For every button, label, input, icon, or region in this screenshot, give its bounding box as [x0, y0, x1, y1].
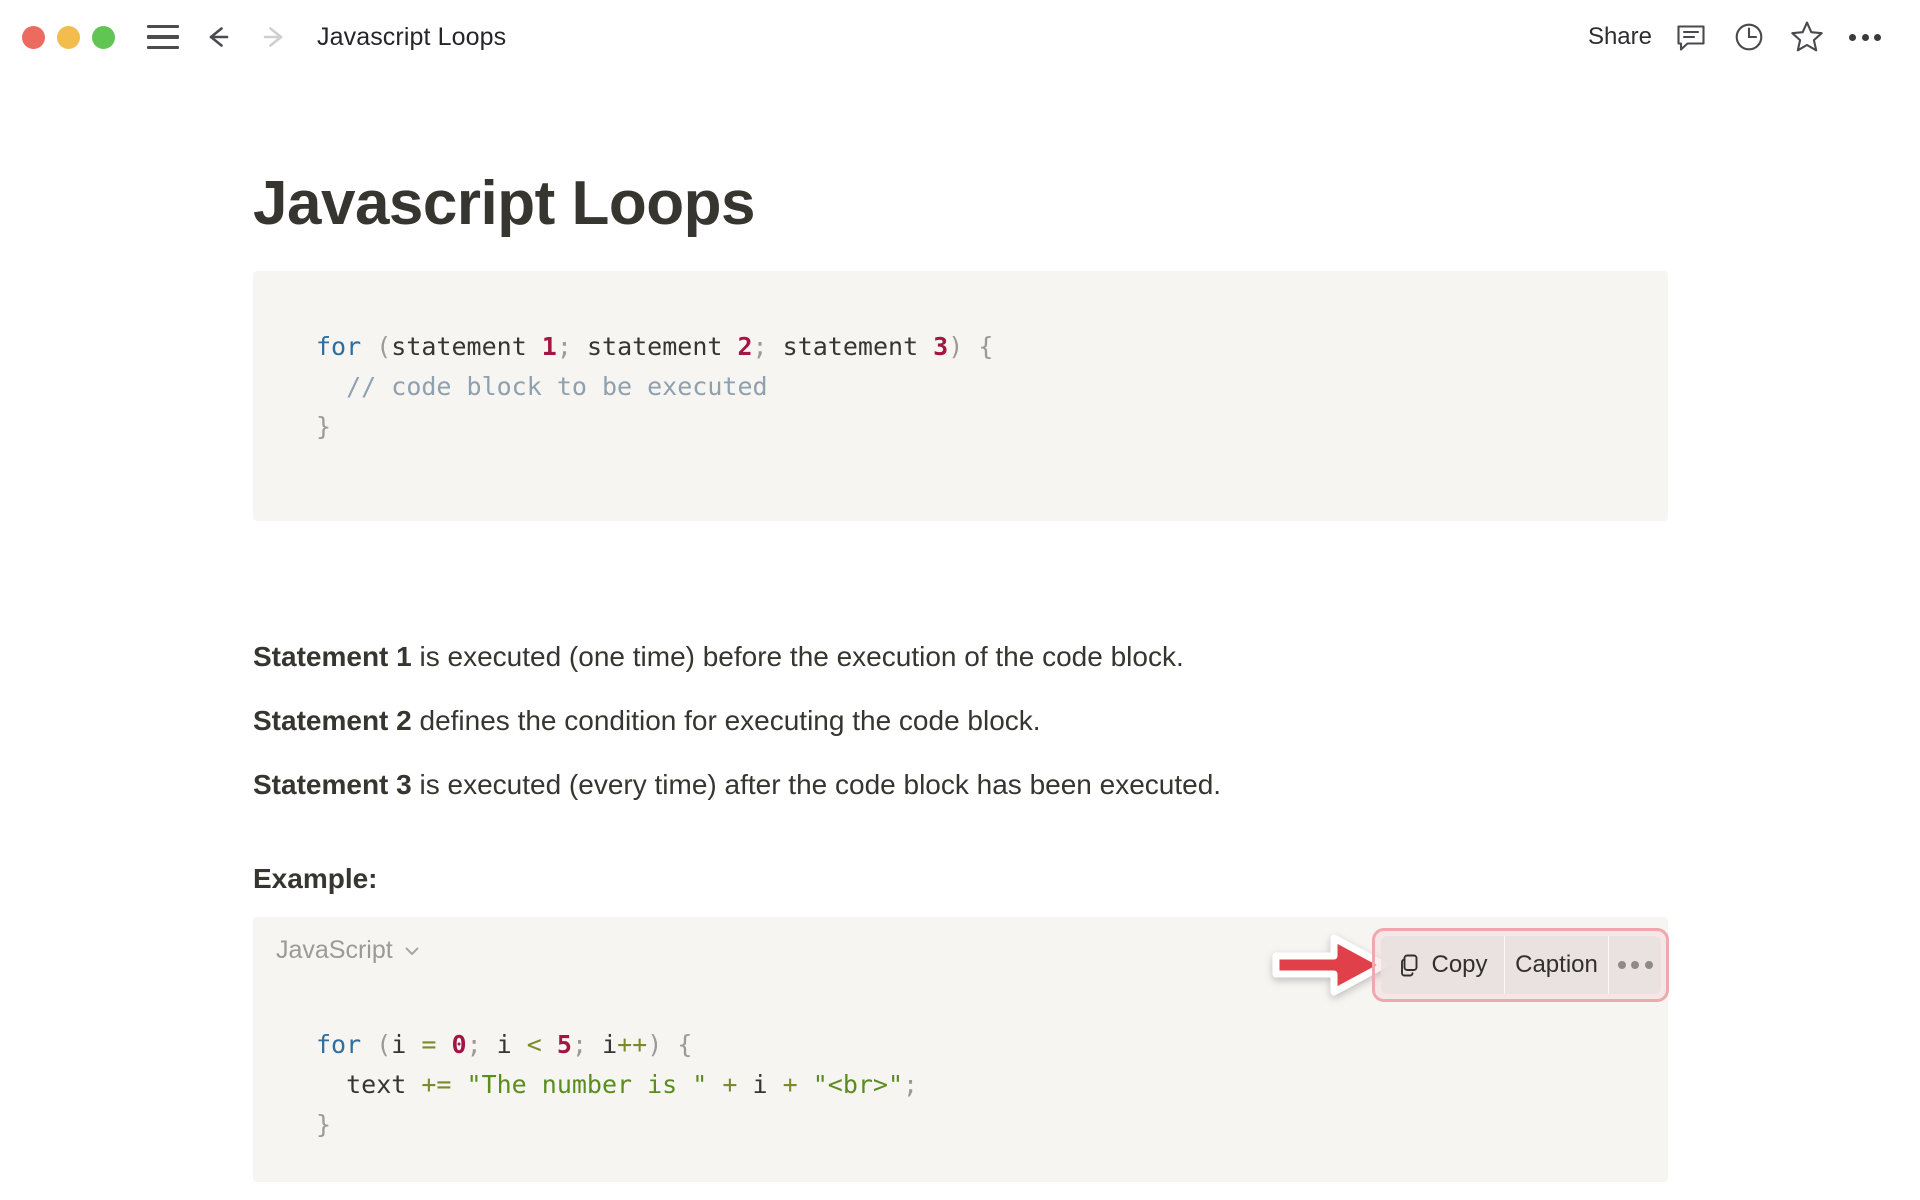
arrow-right-icon[interactable] [255, 17, 295, 57]
code-token: ; [467, 1030, 497, 1059]
code-token: ; [753, 332, 783, 361]
code-token: 3 [933, 332, 948, 361]
code-token: ( [376, 1030, 391, 1059]
code-token: += [421, 1070, 466, 1099]
code-token: = [421, 1030, 451, 1059]
close-window-button[interactable] [22, 26, 45, 49]
code-token [361, 1030, 376, 1059]
code-token: ; [572, 1030, 602, 1059]
code-token: i [753, 1070, 768, 1099]
paragraph-statement-1: Statement 1 is executed (one time) befor… [253, 640, 1184, 674]
code-token: statement [587, 332, 738, 361]
copy-button-label: Copy [1431, 951, 1487, 979]
code-token: 2 [737, 332, 752, 361]
hamburger-line [147, 35, 179, 38]
code-token: statement [391, 332, 542, 361]
paragraph-bold-lead: Statement 2 [253, 705, 412, 736]
code-token: } [316, 1110, 331, 1139]
code-token: 5 [557, 1030, 572, 1059]
code-token: ; [557, 332, 587, 361]
clock-history-icon[interactable] [1720, 15, 1778, 59]
code-block-1-content: for (statement 1; statement 2; statement… [316, 327, 993, 447]
copy-documents-icon [1397, 953, 1422, 978]
code-block-syntax[interactable]: for (statement 1; statement 2; statement… [253, 271, 1668, 521]
code-token: "The number is " [467, 1070, 708, 1099]
chevron-down-icon [402, 941, 422, 961]
hamburger-line [147, 25, 179, 28]
paragraph-bold-lead: Statement 1 [253, 641, 412, 672]
language-select-dropdown[interactable]: JavaScript [276, 936, 422, 965]
code-token [361, 332, 376, 361]
titlebar-actions: Share [1578, 15, 1894, 59]
code-token: ) { [647, 1030, 692, 1059]
dot [1645, 961, 1653, 969]
paragraph-text: is executed (one time) before the execut… [412, 641, 1184, 672]
paragraph-statement-2: Statement 2 defines the condition for ex… [253, 704, 1041, 738]
more-horizontal-icon[interactable] [1836, 15, 1894, 59]
code-token: "<br>" [813, 1070, 903, 1099]
arrow-left-icon[interactable] [197, 17, 237, 57]
code-token: + [768, 1070, 813, 1099]
maximize-window-button[interactable] [92, 26, 115, 49]
example-label: Example: [253, 863, 378, 895]
dot [1618, 961, 1626, 969]
code-token: statement [783, 332, 934, 361]
document-body: Javascript Loops for (statement 1; state… [0, 74, 1920, 1200]
code-token: i [602, 1030, 617, 1059]
paragraph-bold-lead: Statement 3 [253, 769, 412, 800]
code-token: ++ [617, 1030, 647, 1059]
code-token: < [527, 1030, 557, 1059]
code-token: ( [376, 332, 391, 361]
code-token: for [316, 332, 361, 361]
code-token: // code block to be executed [346, 372, 767, 401]
code-token: ) { [948, 332, 993, 361]
paragraph-text: is executed (every time) after the code … [412, 769, 1221, 800]
caption-button-label: Caption [1515, 951, 1598, 979]
paragraph-statement-3: Statement 3 is executed (every time) aft… [253, 768, 1221, 802]
code-block-toolbar: Copy Caption [1381, 936, 1661, 994]
share-button[interactable]: Share [1578, 19, 1662, 55]
hamburger-menu-icon[interactable] [147, 25, 179, 49]
traffic-lights [22, 26, 115, 49]
dot [1849, 34, 1856, 41]
code-token: + [707, 1070, 752, 1099]
code-token: for [316, 1030, 361, 1059]
document-tab-title: Javascript Loops [317, 23, 506, 52]
code-token: } [316, 412, 331, 441]
arrow-right-annotation-icon [1272, 932, 1388, 998]
code-toolbar-more-button[interactable] [1609, 936, 1661, 994]
page-title: Javascript Loops [253, 168, 755, 239]
comment-bubble-icon[interactable] [1662, 15, 1720, 59]
code-token: ; [903, 1070, 918, 1099]
dot [1631, 961, 1639, 969]
language-select-label: JavaScript [276, 936, 393, 965]
star-icon[interactable] [1778, 15, 1836, 59]
paragraph-text: defines the condition for executing the … [412, 705, 1041, 736]
caption-button[interactable]: Caption [1505, 936, 1609, 994]
code-token [316, 372, 346, 401]
code-token: 1 [542, 332, 557, 361]
copy-button[interactable]: Copy [1381, 936, 1505, 994]
code-token: 0 [452, 1030, 467, 1059]
more-horizontal-icon [1618, 961, 1653, 969]
code-token: i [391, 1030, 421, 1059]
minimize-window-button[interactable] [57, 26, 80, 49]
code-block-2-content: for (i = 0; i < 5; i++) { text += "The n… [316, 1025, 918, 1145]
dot [1862, 34, 1869, 41]
code-token: i [497, 1030, 527, 1059]
hamburger-line [147, 46, 179, 49]
code-token: text [316, 1070, 421, 1099]
window-titlebar: Javascript Loops Share [0, 0, 1920, 74]
dot [1874, 34, 1881, 41]
